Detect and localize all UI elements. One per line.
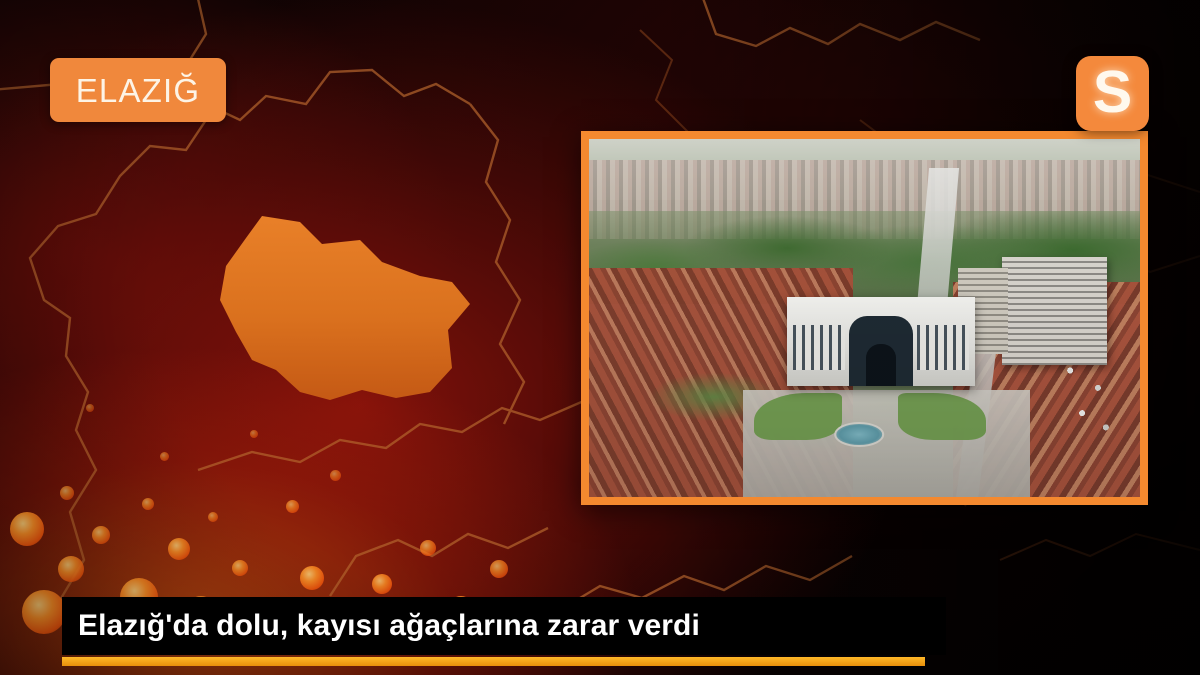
headline-text: Elazığ'da dolu, kayısı ağaçlarına zarar … xyxy=(62,611,700,641)
s-logo[interactable]: S xyxy=(1076,56,1149,131)
s-logo-letter: S xyxy=(1093,63,1132,122)
news-photo xyxy=(589,139,1140,497)
news-photo-frame xyxy=(581,131,1148,505)
headline-underline xyxy=(62,657,925,666)
city-badge: ELAZIĞ xyxy=(50,58,226,122)
headline-bar: Elazığ'da dolu, kayısı ağaçlarına zarar … xyxy=(62,597,946,655)
city-badge-label: ELAZIĞ xyxy=(76,74,201,107)
news-card: ELAZIĞ S xyxy=(0,0,1200,675)
photo-color-grade xyxy=(589,139,1140,497)
